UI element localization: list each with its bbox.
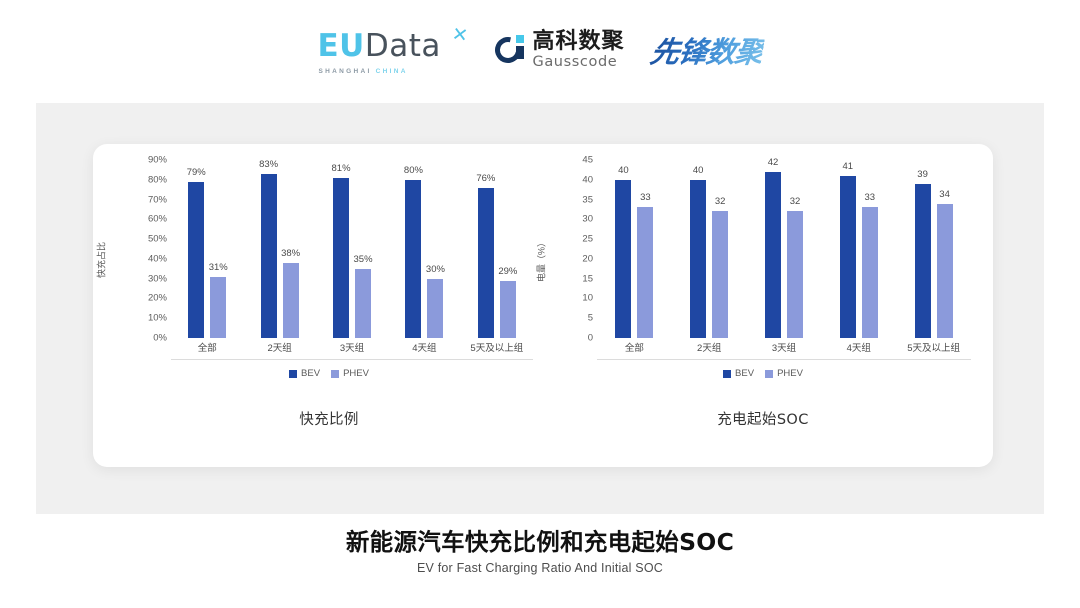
bar-group: 80%30% [388, 160, 460, 338]
bar-phev: 35% [355, 269, 371, 338]
y-tick-label: 90% [148, 155, 167, 165]
legend-swatch-icon [331, 370, 339, 378]
y-tick-label: 10 [582, 294, 593, 304]
footer-titles: 新能源汽车快充比例和充电起始SOC EV for Fast Charging R… [0, 528, 1080, 575]
bar-group: 79%31% [171, 160, 243, 338]
bar-phev: 33 [637, 207, 653, 338]
gausscode-english-name: Gausscode [532, 55, 624, 70]
footer-title-en: EV for Fast Charging Ratio And Initial S… [0, 561, 1080, 575]
legend-item-bev[interactable]: BEV [723, 368, 754, 379]
gausscode-chinese-name: 高科数聚 [532, 31, 624, 53]
evdata-subtitle-shanghai: SHANGHAI [318, 68, 375, 75]
y-axis-ticks-right: 051015202530354045 [559, 160, 593, 338]
evdata-x-icon: ✕ [450, 23, 469, 48]
bar-value-label: 79% [187, 167, 206, 178]
evdata-wordmark: EUData [317, 28, 440, 64]
bar-bev: 42 [765, 172, 781, 338]
y-tick-label: 70% [148, 195, 167, 205]
bar-group: 3934 [896, 160, 971, 338]
bar-value-label: 29% [498, 266, 517, 277]
y-tick-label: 5 [588, 313, 593, 323]
bars-container-left: 79%31%83%38%81%35%80%30%76%29% [171, 160, 533, 338]
legend-right: BEVPHEV [545, 368, 981, 379]
y-tick-label: 45 [582, 155, 593, 165]
chart-initial-soc: 电量（%） 051015202530354045 403340324232413… [545, 160, 981, 450]
evdata-subtitle: SHANGHAI CHINA [318, 68, 407, 75]
x-tick-label: 4天组 [821, 340, 896, 354]
x-tick-label: 4天组 [388, 340, 460, 354]
chart-fast-charging-ratio: 快充占比 0%10%20%30%40%50%60%70%80%90% 79%31… [109, 160, 549, 450]
bar-value-label: 38% [281, 248, 300, 259]
bar-value-label: 80% [404, 165, 423, 176]
legend-swatch-icon [289, 370, 297, 378]
x-tick-label: 2天组 [672, 340, 747, 354]
footer-title-cn: 新能源汽车快充比例和充电起始SOC [0, 528, 1080, 557]
bar-bev: 40 [690, 180, 706, 338]
y-axis-label-left: 快充占比 [95, 242, 108, 278]
bar-value-label: 32 [790, 196, 801, 207]
y-tick-label: 0 [588, 333, 593, 343]
chart-title-left: 快充比例 [109, 408, 549, 429]
bar-group: 4032 [672, 160, 747, 338]
bar-phev: 30% [427, 279, 443, 338]
x-axis-ticks-right: 全部2天组3天组4天组5天及以上组 [597, 340, 971, 354]
plot-wrap-right: 电量（%） 051015202530354045 403340324232413… [545, 160, 981, 360]
bar-phev: 32 [787, 211, 803, 338]
bar-bev: 76% [478, 188, 494, 338]
y-tick-label: 40% [148, 254, 167, 264]
bar-bev: 83% [261, 174, 277, 338]
bar-value-label: 83% [259, 159, 278, 170]
y-tick-label: 35 [582, 195, 593, 205]
bar-value-label: 34 [939, 189, 950, 200]
x-tick-label: 2天组 [243, 340, 315, 354]
plot-area-right: 40334032423241333934 全部2天组3天组4天组5天及以上组 [597, 160, 971, 360]
x-tick-label: 全部 [597, 340, 672, 354]
y-tick-label: 0% [153, 333, 167, 343]
bar-value-label: 30% [426, 264, 445, 275]
bar-group: 4133 [821, 160, 896, 338]
y-tick-label: 60% [148, 215, 167, 225]
x-tick-label: 5天及以上组 [896, 340, 971, 354]
legend-left: BEVPHEV [109, 368, 549, 379]
bar-value-label: 40 [693, 165, 704, 176]
charts-card: 快充占比 0%10%20%30%40%50%60%70%80%90% 79%31… [93, 144, 993, 467]
y-tick-label: 10% [148, 313, 167, 323]
bar-group: 76%29% [461, 160, 533, 338]
legend-label: BEV [735, 368, 754, 379]
slide-root: EUData ✕ SHANGHAI CHINA 高科数聚 Gausscode 先… [0, 0, 1080, 608]
logo-bar: EUData ✕ SHANGHAI CHINA 高科数聚 Gausscode 先… [0, 22, 1080, 78]
bars-container-right: 40334032423241333934 [597, 160, 971, 338]
plot-area-left: 79%31%83%38%81%35%80%30%76%29% 全部2天组3天组4… [171, 160, 533, 360]
legend-label: PHEV [777, 368, 803, 379]
bar-bev: 41 [840, 176, 856, 338]
x-tick-label: 3天组 [747, 340, 822, 354]
bar-value-label: 33 [864, 192, 875, 203]
gausscode-mark-icon [495, 35, 525, 65]
xianfeng-wordmark: 先锋数聚 [647, 29, 766, 71]
y-tick-label: 80% [148, 175, 167, 185]
bar-value-label: 40 [618, 165, 629, 176]
bar-group: 83%38% [243, 160, 315, 338]
bar-value-label: 39 [917, 169, 928, 180]
bar-group: 4232 [747, 160, 822, 338]
y-axis-label-right: 电量（%） [535, 238, 548, 282]
legend-item-phev[interactable]: PHEV [331, 368, 369, 379]
bar-value-label: 32 [715, 196, 726, 207]
evdata-logo: EUData ✕ SHANGHAI CHINA [317, 26, 469, 74]
legend-swatch-icon [723, 370, 731, 378]
bar-phev: 33 [862, 207, 878, 338]
plot-wrap-left: 快充占比 0%10%20%30%40%50%60%70%80%90% 79%31… [109, 160, 549, 360]
bar-value-label: 31% [209, 262, 228, 273]
gausscode-logo: 高科数聚 Gausscode [495, 26, 624, 74]
bar-phev: 29% [500, 281, 516, 338]
bar-value-label: 41 [842, 161, 853, 172]
bar-phev: 38% [283, 263, 299, 338]
y-tick-label: 50% [148, 234, 167, 244]
bar-bev: 81% [333, 178, 349, 338]
bar-bev: 40 [615, 180, 631, 338]
legend-item-phev[interactable]: PHEV [765, 368, 803, 379]
y-tick-label: 40 [582, 175, 593, 185]
xianfeng-logo: 先锋数聚 [651, 26, 763, 74]
chart-title-right: 充电起始SOC [545, 408, 981, 429]
x-tick-label: 5天及以上组 [461, 340, 533, 354]
legend-item-bev[interactable]: BEV [289, 368, 320, 379]
bar-value-label: 76% [476, 173, 495, 184]
gausscode-square-cyan-icon [516, 35, 524, 43]
bar-phev: 34 [937, 204, 953, 338]
legend-swatch-icon [765, 370, 773, 378]
evdata-data-text: Data [365, 28, 441, 64]
bar-bev: 39 [915, 184, 931, 338]
evdata-ev-text: EU [317, 28, 364, 64]
gausscode-text: 高科数聚 Gausscode [532, 31, 624, 70]
gausscode-square-navy-icon [516, 46, 524, 59]
x-axis-ticks-left: 全部2天组3天组4天组5天及以上组 [171, 340, 533, 354]
bar-bev: 80% [405, 180, 421, 338]
y-tick-label: 25 [582, 234, 593, 244]
legend-label: PHEV [343, 368, 369, 379]
y-tick-label: 20% [148, 294, 167, 304]
bar-group: 4033 [597, 160, 672, 338]
x-tick-label: 全部 [171, 340, 243, 354]
bar-value-label: 42 [768, 157, 779, 168]
legend-label: BEV [301, 368, 320, 379]
x-tick-label: 3天组 [316, 340, 388, 354]
bar-group: 81%35% [316, 160, 388, 338]
bar-value-label: 33 [640, 192, 651, 203]
bar-value-label: 81% [332, 163, 351, 174]
bar-phev: 32 [712, 211, 728, 338]
y-axis-ticks-left: 0%10%20%30%40%50%60%70%80%90% [133, 160, 167, 338]
bar-phev: 31% [210, 277, 226, 338]
evdata-subtitle-china: CHINA [376, 68, 408, 75]
y-tick-label: 30% [148, 274, 167, 284]
y-tick-label: 30 [582, 215, 593, 225]
bar-bev: 79% [188, 182, 204, 338]
y-tick-label: 20 [582, 254, 593, 264]
bar-value-label: 35% [354, 254, 373, 265]
y-tick-label: 15 [582, 274, 593, 284]
